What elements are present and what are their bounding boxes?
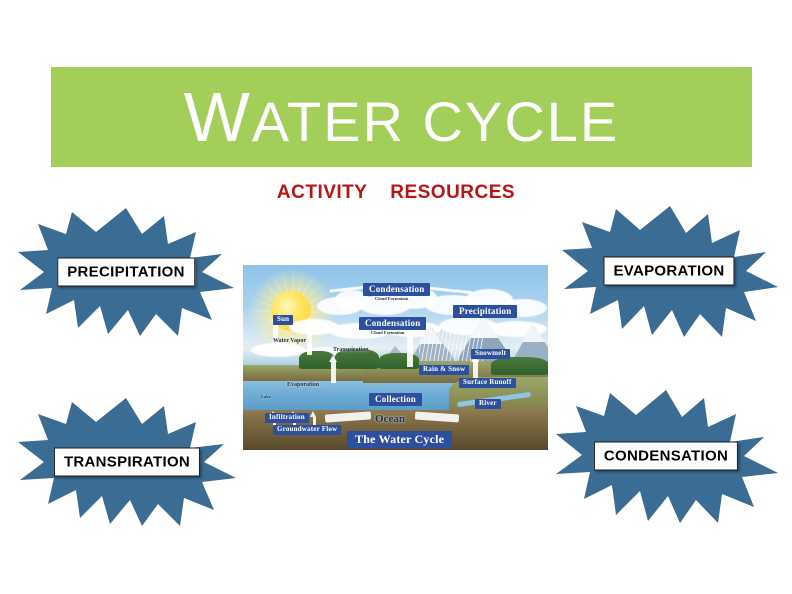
- diagram-label-rain-and-snow: Rain & Snow: [419, 365, 469, 375]
- diagram-label-ocean: Ocean: [375, 413, 405, 425]
- burst-label-precipitation: PRECIPITATION: [57, 258, 195, 287]
- page-title: WATER CYCLE: [184, 82, 620, 152]
- diagram-label-sun: Sun: [273, 315, 293, 325]
- diagram-label-infiltration: Infiltration: [265, 413, 309, 423]
- diagram-label-collection: Collection: [369, 393, 422, 406]
- tree-cluster-shape: [491, 357, 548, 375]
- vapor-arrow-stem: [307, 323, 312, 355]
- diagram-label-evaporation: Evaporation: [287, 382, 319, 388]
- burst-label-condensation: CONDENSATION: [594, 442, 738, 471]
- infiltration-arrow-head: [310, 411, 316, 417]
- water-cycle-diagram-canvas: Sun Water Vapor Condensation Cloud Forma…: [243, 265, 548, 450]
- diagram-sublabel-cloud-formation-top: Cloud Formation: [375, 296, 408, 301]
- title-rest: ATER CYCLE: [252, 90, 619, 153]
- tree-cluster-shape: [379, 353, 419, 369]
- diagram-label-surface-runoff: Surface Runoff: [459, 378, 516, 388]
- transpiration-arrow-stem: [407, 327, 413, 367]
- burst-condensation[interactable]: CONDENSATION: [552, 387, 780, 525]
- diagram-sublabel-cloud-formation-mid: Cloud Formation: [371, 330, 404, 335]
- diagram-label-lake: Lake: [261, 394, 271, 399]
- diagram-label-precipitation: Precipitation: [453, 305, 517, 318]
- burst-precipitation[interactable]: PRECIPITATION: [16, 206, 236, 338]
- water-cycle-diagram-image: Sun Water Vapor Condensation Cloud Forma…: [240, 262, 551, 453]
- diagram-label-condensation-mid: Condensation: [359, 317, 426, 330]
- burst-label-transpiration: TRANSPIRATION: [54, 448, 200, 477]
- vapor-arrow-head: [305, 317, 313, 324]
- snowcap-shape: [521, 321, 545, 342]
- diagram-label-condensation-top: Condensation: [363, 283, 430, 296]
- evaporation-arrow-head: [329, 355, 337, 362]
- diagram-label-transpiration: Transpiration: [333, 347, 369, 353]
- diagram-label-river: River: [475, 399, 501, 409]
- evaporation-arrow-stem: [331, 361, 336, 383]
- diagram-label-snowmelt: Snowmelt: [471, 349, 510, 359]
- burst-evaporation[interactable]: EVAPORATION: [558, 203, 780, 339]
- subtitle-activity-resources: ACTIVITY RESOURCES: [0, 182, 792, 204]
- diagram-label-water-vapor: Water Vapor: [273, 338, 306, 344]
- diagram-label-groundwater-flow: Groundwater Flow: [273, 425, 341, 435]
- diagram-title-water-cycle: The Water Cycle: [347, 431, 452, 448]
- cloud-shape: [251, 343, 305, 357]
- burst-label-evaporation: EVAPORATION: [603, 257, 734, 286]
- burst-transpiration[interactable]: TRANSPIRATION: [16, 396, 238, 528]
- title-banner: WATER CYCLE: [51, 67, 752, 167]
- title-initial: W: [184, 78, 252, 156]
